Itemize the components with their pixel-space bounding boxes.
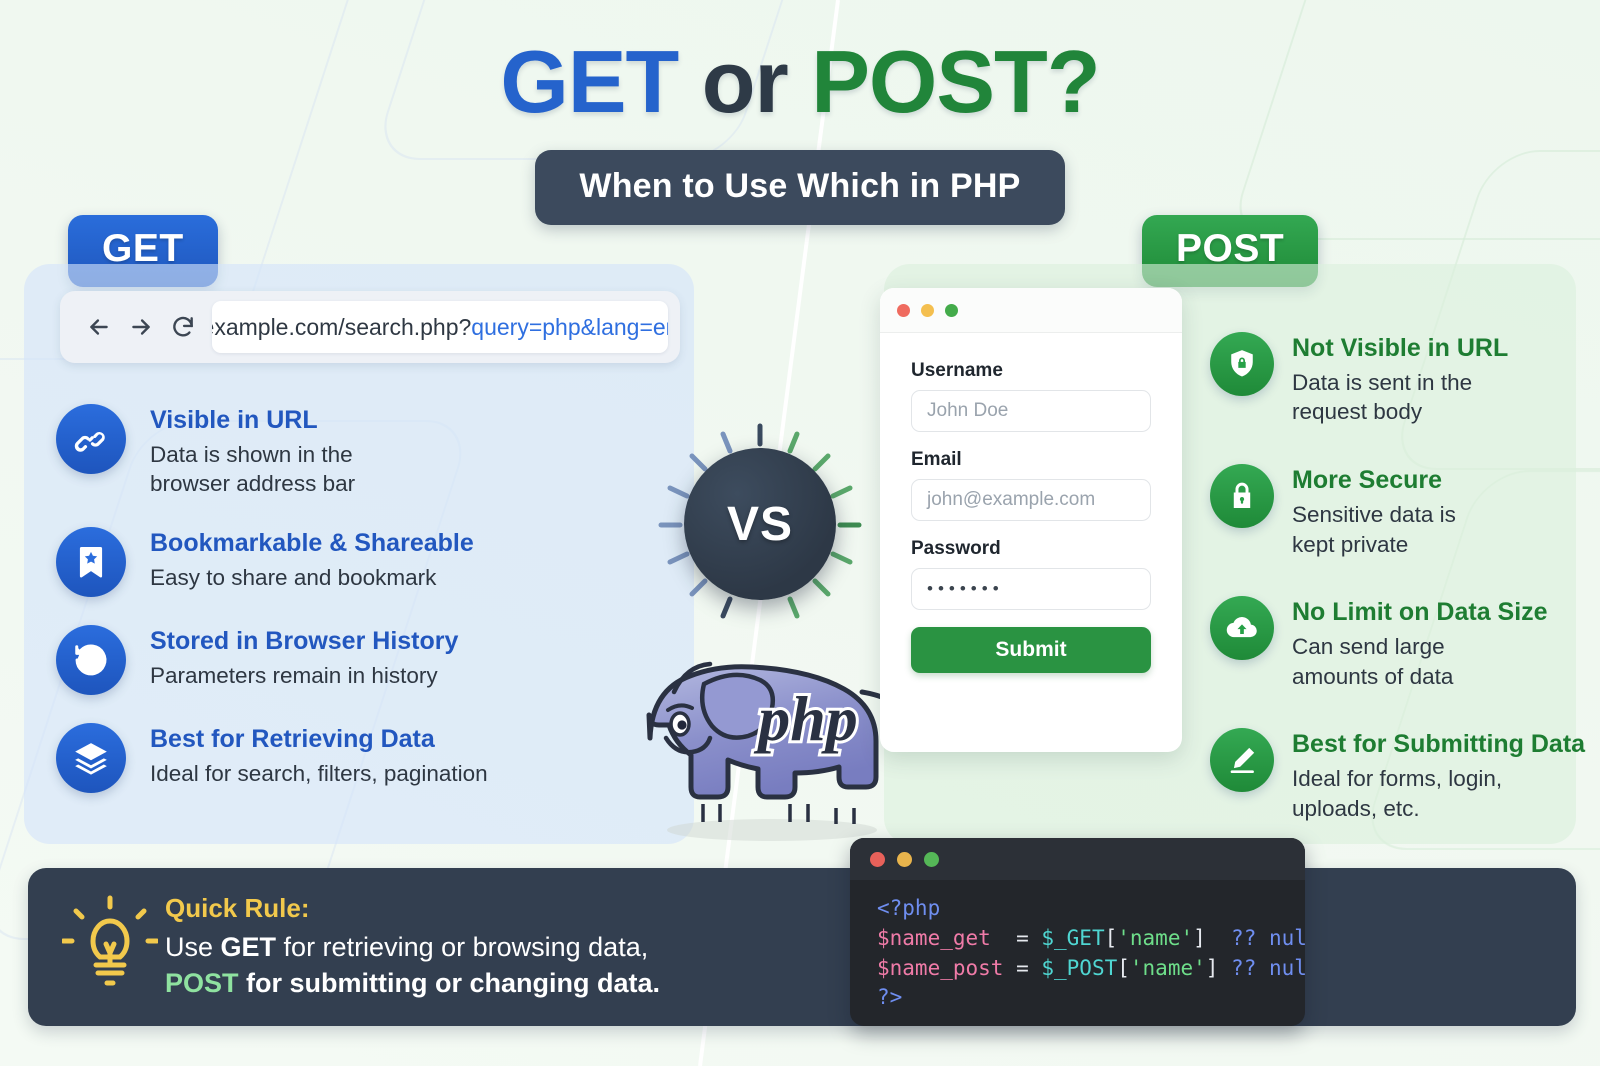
email-input[interactable]: john@example.com [911,479,1151,521]
list-item-desc: Ideal for forms, login, uploads, etc. [1292,764,1585,823]
list-item-desc: Data is sent in the request body [1292,368,1508,427]
lightbulb-icon [62,895,158,995]
quick-rule-line1-post: for retrieving or browsing data, [276,932,648,962]
shield-lock-icon [1210,332,1274,396]
maximize-dot-icon[interactable] [924,852,939,867]
code-superglobal: $_GET [1041,926,1104,950]
code-bracket: [ [1105,926,1118,950]
get-feature-list: Visible in URL Data is shown in the brow… [56,404,676,793]
code-close-tag: ?> [877,985,902,1009]
quick-rule-line-2: POST for submitting or changing data. [165,966,660,1002]
browser-address-bar[interactable]: example.com/search.php?query=php&lang=en [60,291,680,363]
list-item-desc: Parameters remain in history [150,661,458,691]
quick-rule-text: Quick Rule: Use GET for retrieving or br… [165,893,660,1001]
list-item-title: Stored in Browser History [150,627,458,656]
list-item-desc: Sensitive data is kept private [1292,500,1456,559]
quick-rule-line2-rest: for submitting or changing data. [239,968,661,998]
code-line: <?php [877,894,1305,924]
code-null: null; [1269,956,1305,980]
minimize-dot-icon[interactable] [897,852,912,867]
list-item-desc: Ideal for search, filters, pagination [150,759,488,789]
code-string: 'name' [1117,926,1193,950]
list-item: Best for Retrieving Data Ideal for searc… [56,723,676,793]
post-form-window: Username John Doe Email john@example.com… [880,288,1182,752]
password-label: Password [911,538,1151,560]
list-item: Stored in Browser History Parameters rem… [56,625,676,695]
minimize-dot-icon[interactable] [921,304,934,317]
cloud-upload-icon [1210,596,1274,660]
email-label: Email [911,449,1151,471]
code-bracket: ] [1193,926,1206,950]
quick-rule-line-1: Use GET for retrieving or browsing data, [165,930,660,966]
list-item-title: Best for Retrieving Data [150,725,488,754]
php-wordmark: php [753,683,858,754]
page-title: GET or POST? [0,36,1600,128]
code-coalesce: ?? [1206,926,1269,950]
list-item-desc: Easy to share and bookmark [150,563,474,593]
code-bracket: [ [1117,956,1130,980]
code-bracket: ] [1206,956,1219,980]
php-elephant: php [612,630,912,845]
list-item: Bookmarkable & Shareable Easy to share a… [56,527,676,597]
code-line: ?> [877,983,1305,1013]
list-item-title: Visible in URL [150,406,355,435]
code-op: = [991,926,1042,950]
code-body: <?php$name_get = $_GET['name'] ?? null;$… [850,880,1305,1013]
header: GET or POST? When to Use Which in PHP [0,0,1600,225]
close-dot-icon[interactable] [897,304,910,317]
quick-rule-title: Quick Rule: [165,893,660,924]
code-line: $name_get = $_GET['name'] ?? null; [877,924,1305,954]
url-query: query=php&lang=en [471,314,668,341]
lock-icon [1210,464,1274,528]
list-item: Best for Submitting Data Ideal for forms… [1210,728,1600,823]
vs-circle: VS [684,448,836,600]
list-item: Visible in URL Data is shown in the brow… [56,404,676,499]
code-line: $name_post = $_POST['name'] ?? null; [877,954,1305,984]
code-superglobal: $_POST [1041,956,1117,980]
list-item-desc: Data is shown in the browser address bar [150,440,355,499]
code-window-titlebar [850,838,1305,880]
bookmark-star-icon [56,527,126,597]
title-get: GET [500,32,678,131]
close-dot-icon[interactable] [870,852,885,867]
form-window-titlebar [880,288,1182,333]
title-or: or [678,32,811,131]
code-var: $name_post [877,956,1003,980]
code-coalesce: ?? [1218,956,1269,980]
list-item: No Limit on Data Size Can send large amo… [1210,596,1600,691]
quick-rule-get: GET [221,932,277,962]
code-op: = [1003,956,1041,980]
reload-icon[interactable] [170,314,196,340]
url-base: example.com/search.php? [212,314,471,341]
username-label: Username [911,360,1151,382]
arrow-right-icon[interactable] [128,314,154,340]
code-string: 'name' [1130,956,1206,980]
vs-badge: VS [655,420,865,630]
history-clock-icon [56,625,126,695]
list-item-title: Not Visible in URL [1292,334,1508,363]
list-item: Not Visible in URL Data is sent in the r… [1210,332,1600,427]
code-var: $name_get [877,926,991,950]
username-input[interactable]: John Doe [911,390,1151,432]
title-post: POST? [811,32,1099,131]
arrow-left-icon[interactable] [86,314,112,340]
list-item-title: Best for Submitting Data [1292,730,1585,759]
list-item-title: More Secure [1292,466,1456,495]
quick-rule-post: POST [165,968,239,998]
url-input[interactable]: example.com/search.php?query=php&lang=en [212,301,668,353]
submit-button[interactable]: Submit [911,627,1151,673]
vs-label: VS [727,497,793,552]
list-item-title: No Limit on Data Size [1292,598,1548,627]
password-input[interactable]: ••••••• [911,568,1151,610]
quick-rule-line1-pre: Use [165,932,221,962]
php-code-window: <?php$name_get = $_GET['name'] ?? null;$… [850,838,1305,1026]
post-feature-list: Not Visible in URL Data is sent in the r… [1210,332,1600,861]
list-item-desc: Can send large amounts of data [1292,632,1548,691]
code-open-tag: <?php [877,896,940,920]
form-body: Username John Doe Email john@example.com… [880,333,1182,673]
browser-nav-icons [72,314,212,340]
page-subtitle: When to Use Which in PHP [535,150,1064,225]
link-icon [56,404,126,474]
list-item-title: Bookmarkable & Shareable [150,529,474,558]
maximize-dot-icon[interactable] [945,304,958,317]
list-item: More Secure Sensitive data is kept priva… [1210,464,1600,559]
code-null: null; [1269,926,1305,950]
pencil-icon [1210,728,1274,792]
layers-icon [56,723,126,793]
